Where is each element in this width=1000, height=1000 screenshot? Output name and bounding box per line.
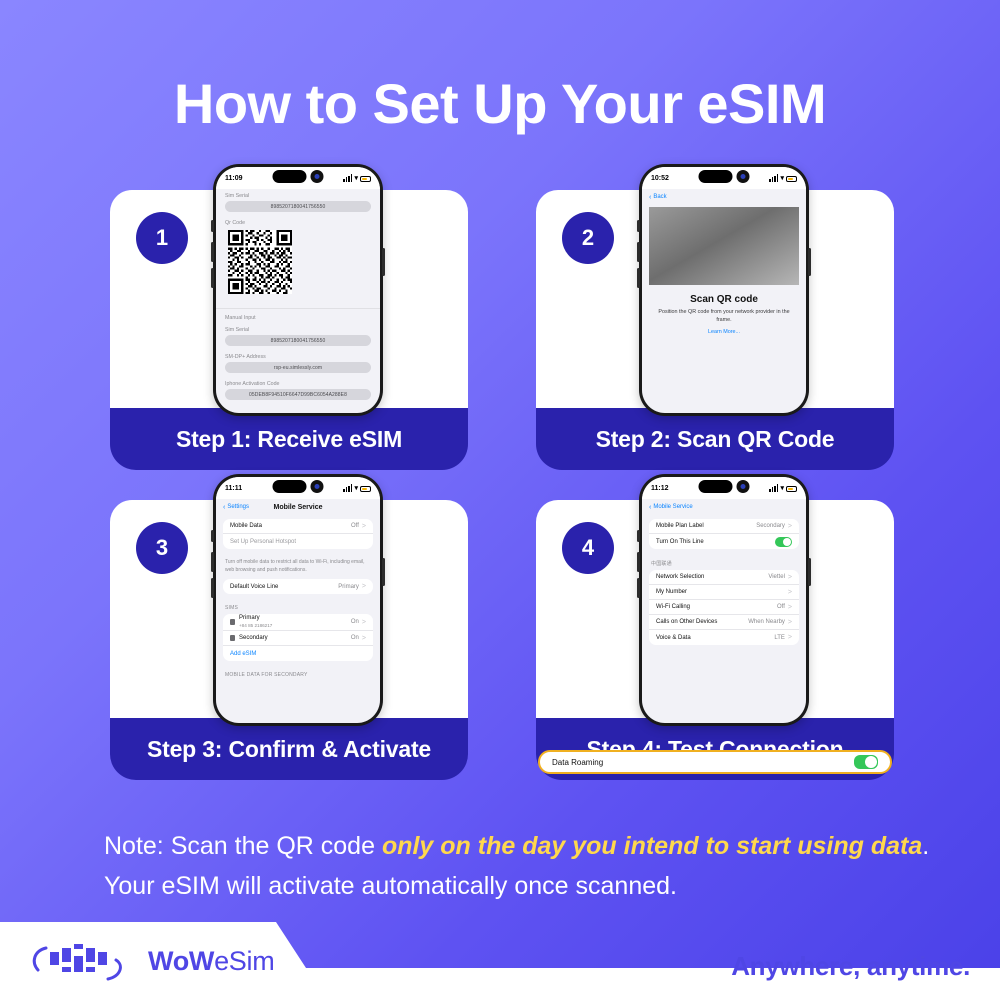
phone-mock-1: 11:09 ▾ Sim Serial 898520718 [213, 164, 383, 416]
chevron-right-icon: > [788, 634, 792, 641]
chevron-right-icon: > [362, 523, 366, 530]
wifi-icon: ▾ [354, 485, 358, 492]
row-add-esim[interactable]: Add eSIM [223, 646, 373, 661]
status-bar-1: 11:09 ▾ [216, 167, 380, 189]
note-line-1-text: Note: Scan the QR code only on the day y… [104, 828, 929, 864]
status-icons: ▾ [343, 174, 371, 182]
row-label: My Number [656, 589, 687, 595]
brand-logo-text: WoWeSim [148, 946, 274, 977]
row-value: Viettel [768, 574, 785, 580]
status-icons: ▾ [769, 484, 797, 492]
manual-sim-serial-label: Sim Serial [216, 323, 380, 335]
page-title: How to Set Up Your eSIM [0, 72, 1000, 136]
phone-volume-down-button [211, 578, 214, 598]
camera-viewfinder [649, 207, 799, 285]
row-calls-on-other-devices[interactable]: Calls on Other Devices When Nearby > [649, 615, 799, 630]
steps-grid: 1 11:09 ▾ [110, 190, 894, 780]
phone-screen-2: 10:52 ▾ [642, 167, 806, 413]
front-camera-icon [737, 480, 750, 493]
phone-volume-down-button [637, 578, 640, 598]
front-camera-icon [311, 480, 324, 493]
row-default-voice-line[interactable]: Default Voice Line Primary > [223, 579, 373, 594]
phone-silent-switch [211, 220, 214, 232]
note-block: Note: Scan the QR code only on the day y… [0, 828, 1000, 905]
step-number-badge-2: 2 [562, 212, 614, 264]
row-turn-on-this-line[interactable]: Turn On This Line [649, 534, 799, 549]
wifi-icon: ▾ [780, 485, 784, 492]
battery-icon [360, 176, 371, 182]
scan-title: Scan QR code [642, 294, 806, 305]
phone-mock-2: 10:52 ▾ [639, 164, 809, 416]
settings-group-data: Mobile Data Off > Set Up Personal Hotspo… [223, 519, 373, 549]
logo-light: eSim [214, 946, 274, 976]
row-value: Off [777, 604, 785, 610]
wifi-icon: ▾ [354, 175, 358, 182]
step-number-badge-1: 1 [136, 212, 188, 264]
phone-volume-down-button [211, 268, 214, 288]
phone-screen-4: 11:12 ▾ [642, 477, 806, 723]
dynamic-island [273, 170, 324, 183]
row-voice-and-data[interactable]: Voice & Data LTE > [649, 630, 799, 645]
turn-on-line-toggle[interactable] [775, 537, 792, 547]
qr-code-image [228, 230, 292, 294]
notch-pill-icon [273, 480, 307, 493]
row-label: Secondary [239, 635, 268, 641]
step-label-2: Step 2: Scan QR Code [536, 408, 894, 470]
row-mobile-plan-label[interactable]: Mobile Plan Label Secondary > [649, 519, 799, 534]
step-label-3: Step 3: Confirm & Activate [110, 718, 468, 780]
phone-volume-up-button [637, 552, 640, 572]
row-label: Turn On This Line [656, 539, 704, 545]
phone-mock-3: 11:11 ▾ [213, 474, 383, 726]
row-sublabel: +84 85 2186217 [239, 623, 272, 629]
row-label: Wi-Fi Calling [656, 604, 690, 610]
note-suffix: . [922, 832, 929, 860]
row-mobile-data[interactable]: Mobile Data Off > [223, 519, 373, 534]
qr-scanner-screen: ‹ Back Scan QR code Position the QR code… [642, 189, 806, 413]
back-button-label: Mobile Service [653, 504, 692, 510]
phone-screen-1: 11:09 ▾ Sim Serial 898520718 [216, 167, 380, 413]
status-time: 11:09 [225, 175, 243, 182]
data-roaming-highlight-row[interactable]: Data Roaming [538, 750, 892, 774]
row-label: Mobile Data [230, 523, 262, 529]
row-label: Set Up Personal Hotspot [230, 539, 296, 545]
settings-group-sims: Primary +84 85 2186217 On > Secondary On [223, 614, 373, 661]
status-time: 11:11 [225, 485, 242, 492]
sim-serial-value: 8985207180041756550 [225, 201, 371, 212]
activation-code-value: 05DEB8F94510F6647D99BC6054A288E8 [225, 389, 371, 400]
steps-row-2: 3 11:11 ▾ [110, 500, 894, 780]
chevron-right-icon: > [788, 589, 792, 596]
cellular-signal-icon [769, 484, 778, 492]
logo-bold: WoW [148, 946, 214, 976]
battery-icon [786, 486, 797, 492]
row-value: On [351, 635, 359, 641]
data-roaming-toggle[interactable] [854, 755, 878, 769]
manual-sim-serial-value: 8985207180041756550 [225, 335, 371, 346]
phone-silent-switch [211, 530, 214, 542]
sim-card-icon [230, 619, 235, 625]
esim-details-screen: Sim Serial 8985207180041756550 Qr Code [216, 189, 380, 413]
scan-subtitle: Position the QR code from your network p… [642, 309, 806, 325]
chevron-left-icon: ‹ [649, 194, 651, 201]
notch-pill-icon [699, 480, 733, 493]
nav-bar: ‹ Mobile Service [642, 499, 806, 515]
phone-screen-3: 11:11 ▾ [216, 477, 380, 723]
lightbulb-icon [66, 830, 92, 864]
cellular-signal-icon [343, 484, 352, 492]
phone-volume-up-button [211, 242, 214, 262]
notch-pill-icon [273, 170, 307, 183]
phone-volume-down-button [637, 268, 640, 288]
step-card-4[interactable]: 4 11:12 ▾ [536, 500, 894, 780]
sims-section-heading: SIMs [216, 600, 380, 614]
brand-logo[interactable]: WoWeSim [28, 938, 274, 984]
row-value: On [351, 619, 359, 625]
settings-group-network: Network Selection Viettel > My Number > … [649, 570, 799, 645]
steps-row-1: 1 11:09 ▾ [110, 190, 894, 470]
back-button[interactable]: ‹ Mobile Service [649, 504, 693, 511]
learn-more-link[interactable]: Learn More... [642, 329, 806, 335]
back-button[interactable]: ‹ Back [649, 194, 667, 201]
wowesim-logo-mark-icon [28, 938, 134, 984]
wifi-icon: ▾ [780, 175, 784, 182]
status-icons: ▾ [769, 174, 797, 182]
dynamic-island [699, 480, 750, 493]
status-icons: ▾ [343, 484, 371, 492]
cellular-signal-icon [343, 174, 352, 182]
phone-power-button [808, 248, 811, 276]
chevron-right-icon: > [788, 523, 792, 530]
note-prefix: Note: Scan the QR code [104, 832, 382, 860]
section-divider [216, 308, 380, 309]
back-button-label: Back [653, 194, 666, 200]
front-camera-icon [737, 170, 750, 183]
row-label: Calls on Other Devices [656, 619, 717, 625]
qr-code-wrap [216, 228, 380, 304]
note-line-1: Note: Scan the QR code only on the day y… [66, 828, 938, 864]
phone-volume-up-button [637, 242, 640, 262]
row-label: Mobile Plan Label [656, 523, 704, 529]
status-bar-3: 11:11 ▾ [216, 477, 380, 499]
row-label: Add eSIM [230, 651, 256, 657]
row-label: Voice & Data [656, 635, 691, 641]
chevron-right-icon: > [362, 583, 366, 590]
carrier-heading: 中国联通 [642, 555, 806, 570]
chevron-right-icon: > [788, 604, 792, 611]
settings-group-voice: Default Voice Line Primary > [223, 579, 373, 594]
phone-silent-switch [637, 220, 640, 232]
row-sim-secondary[interactable]: Secondary On > [223, 631, 373, 646]
chevron-right-icon: > [362, 635, 366, 642]
settings-group-plan: Mobile Plan Label Secondary > Turn On Th… [649, 519, 799, 549]
status-bar-2: 10:52 ▾ [642, 167, 806, 189]
battery-icon [786, 176, 797, 182]
chevron-right-icon: > [362, 619, 366, 626]
row-my-number[interactable]: My Number > [649, 585, 799, 600]
row-value: Off [351, 523, 359, 529]
phone-volume-up-button [211, 552, 214, 572]
notch-pill-icon [699, 170, 733, 183]
row-label: Primary [239, 615, 272, 623]
nav-bar: ‹ Back [642, 189, 806, 205]
manual-input-heading: Manual Input [216, 311, 380, 323]
mobile-data-secondary-heading: MOBILE DATA FOR SECONDARY [216, 667, 380, 681]
smdp-address-label: SM-DP+ Address [216, 350, 380, 362]
qr-code-label: Qr Code [216, 216, 380, 228]
nav-title: Mobile Service [216, 504, 380, 511]
smdp-address-value: rsp-eu.simlessly.com [225, 362, 371, 373]
step-label-1: Step 1: Receive eSIM [110, 408, 468, 470]
status-time: 10:52 [651, 175, 669, 182]
row-label: Default Voice Line [230, 584, 278, 590]
row-label: Network Selection [656, 574, 704, 580]
step-number-badge-3: 3 [136, 522, 188, 574]
brand-tagline: Anywhere, anytime. [731, 951, 970, 982]
row-value: Secondary [756, 523, 785, 529]
sim-card-icon [230, 635, 235, 641]
row-label-stack: Primary +84 85 2186217 [239, 615, 272, 628]
phone-silent-switch [637, 530, 640, 542]
step-number-badge-4: 4 [562, 522, 614, 574]
phone-mock-4: 11:12 ▾ [639, 474, 809, 726]
row-personal-hotspot[interactable]: Set Up Personal Hotspot [223, 534, 373, 549]
status-time: 11:12 [651, 485, 669, 492]
activation-code-label: Iphone Activation Code [216, 377, 380, 389]
row-value: When Nearby [748, 619, 785, 625]
battery-icon [360, 486, 371, 492]
step-card-3[interactable]: 3 11:11 ▾ [110, 500, 468, 780]
data-roaming-label: Data Roaming [552, 758, 603, 767]
note-line-2: Your eSIM will activate automatically on… [104, 868, 938, 904]
row-sim-primary[interactable]: Primary +84 85 2186217 On > [223, 614, 373, 631]
chevron-left-icon: ‹ [649, 504, 651, 511]
chevron-right-icon: > [788, 619, 792, 626]
row-value: LTE [774, 635, 785, 641]
dynamic-island [273, 480, 324, 493]
line-settings-screen: ‹ Mobile Service Mobile Plan Label Secon… [642, 499, 806, 723]
front-camera-icon [311, 170, 324, 183]
mobile-service-screen: ‹ Settings Mobile Service Mobile Data Of… [216, 499, 380, 723]
status-bar-4: 11:12 ▾ [642, 477, 806, 499]
step-card-1[interactable]: 1 11:09 ▾ [110, 190, 468, 470]
sim-serial-label: Sim Serial [216, 189, 380, 201]
cellular-signal-icon [769, 174, 778, 182]
phone-power-button [382, 558, 385, 586]
mobile-data-note: Turn off mobile data to restrict all dat… [216, 555, 380, 579]
nav-bar: ‹ Settings Mobile Service [216, 499, 380, 515]
note-emphasis: only on the day you intend to start usin… [382, 832, 922, 860]
step-card-2[interactable]: 2 10:52 ▾ [536, 190, 894, 470]
row-value: Primary [338, 584, 359, 590]
phone-power-button [808, 558, 811, 586]
row-network-selection[interactable]: Network Selection Viettel > [649, 570, 799, 585]
dynamic-island [699, 170, 750, 183]
chevron-right-icon: > [788, 574, 792, 581]
phone-power-button [382, 248, 385, 276]
row-wifi-calling[interactable]: Wi-Fi Calling Off > [649, 600, 799, 615]
